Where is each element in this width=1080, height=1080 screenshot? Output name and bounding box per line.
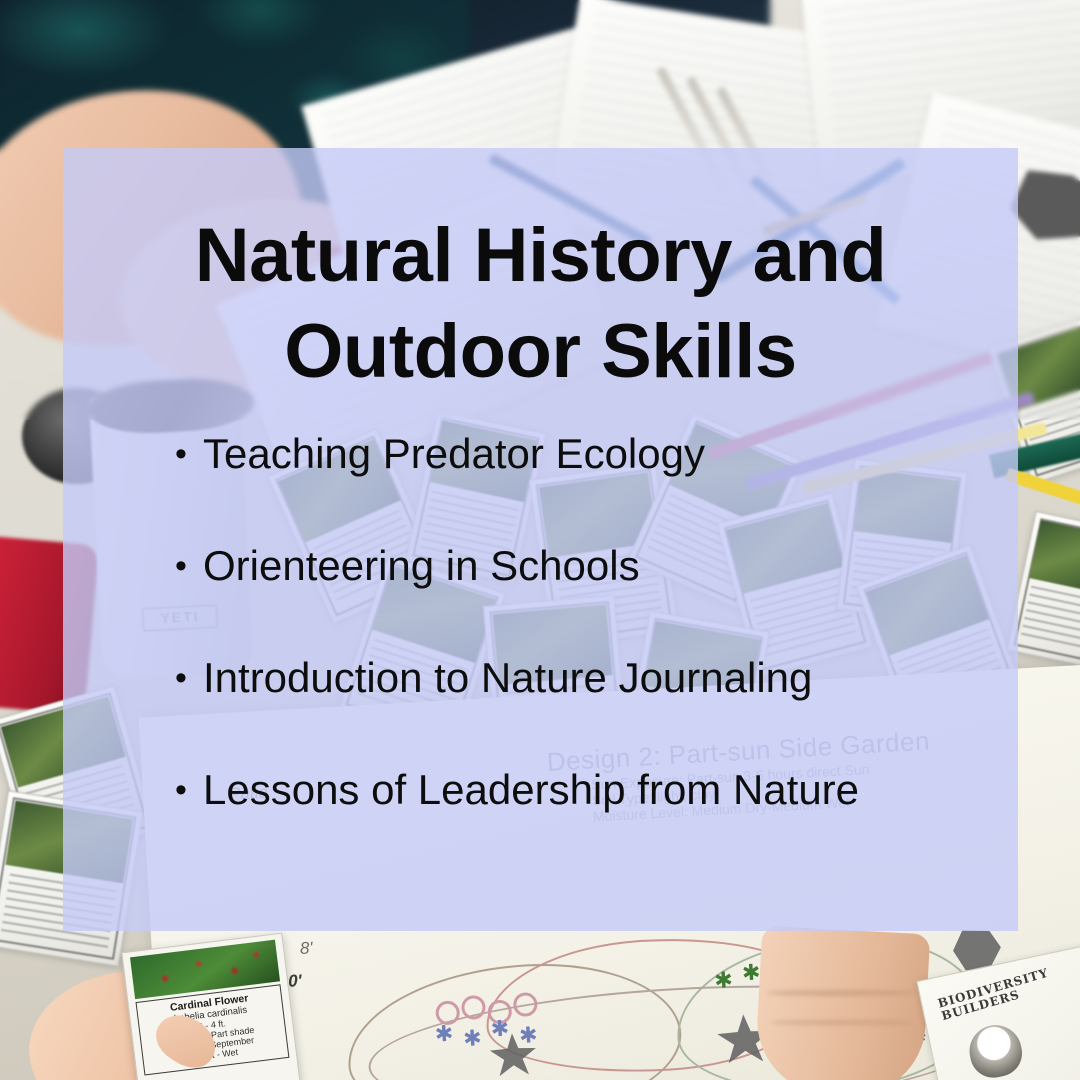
list-item-label: Lessons of Leadership from Nature xyxy=(203,764,998,816)
wrist-crease xyxy=(766,990,916,996)
list-item: • Lessons of Leadership from Nature xyxy=(175,764,998,816)
bullet-icon: • xyxy=(175,652,203,704)
list-item: • Introduction to Nature Journaling xyxy=(175,652,998,704)
list-item-label: Teaching Predator Ecology xyxy=(203,428,998,480)
dimension-8ft: 8' xyxy=(299,938,313,959)
wrist-crease xyxy=(770,1020,912,1025)
topic-list: • Teaching Predator Ecology • Orienteeri… xyxy=(175,428,998,816)
list-item: • Orienteering in Schools xyxy=(175,540,998,592)
bullet-icon: • xyxy=(175,428,203,480)
slide-title-line-1: Natural History and xyxy=(63,208,1018,304)
slide-title-line-2: Outdoor Skills xyxy=(63,304,1018,400)
text-overlay-panel: Natural History and Outdoor Skills • Tea… xyxy=(63,148,1018,931)
forearm-bottom-right xyxy=(754,926,930,1080)
bullet-icon: • xyxy=(175,540,203,592)
bullet-icon: • xyxy=(175,764,203,816)
slide-canvas: YETI xyxy=(0,0,1080,1080)
list-item-label: Orienteering in Schools xyxy=(203,540,998,592)
list-item: • Teaching Predator Ecology xyxy=(175,428,998,480)
handout-logo-mark xyxy=(965,1020,1027,1080)
list-item-label: Introduction to Nature Journaling xyxy=(203,652,998,704)
slide-title: Natural History and Outdoor Skills xyxy=(63,208,1018,400)
